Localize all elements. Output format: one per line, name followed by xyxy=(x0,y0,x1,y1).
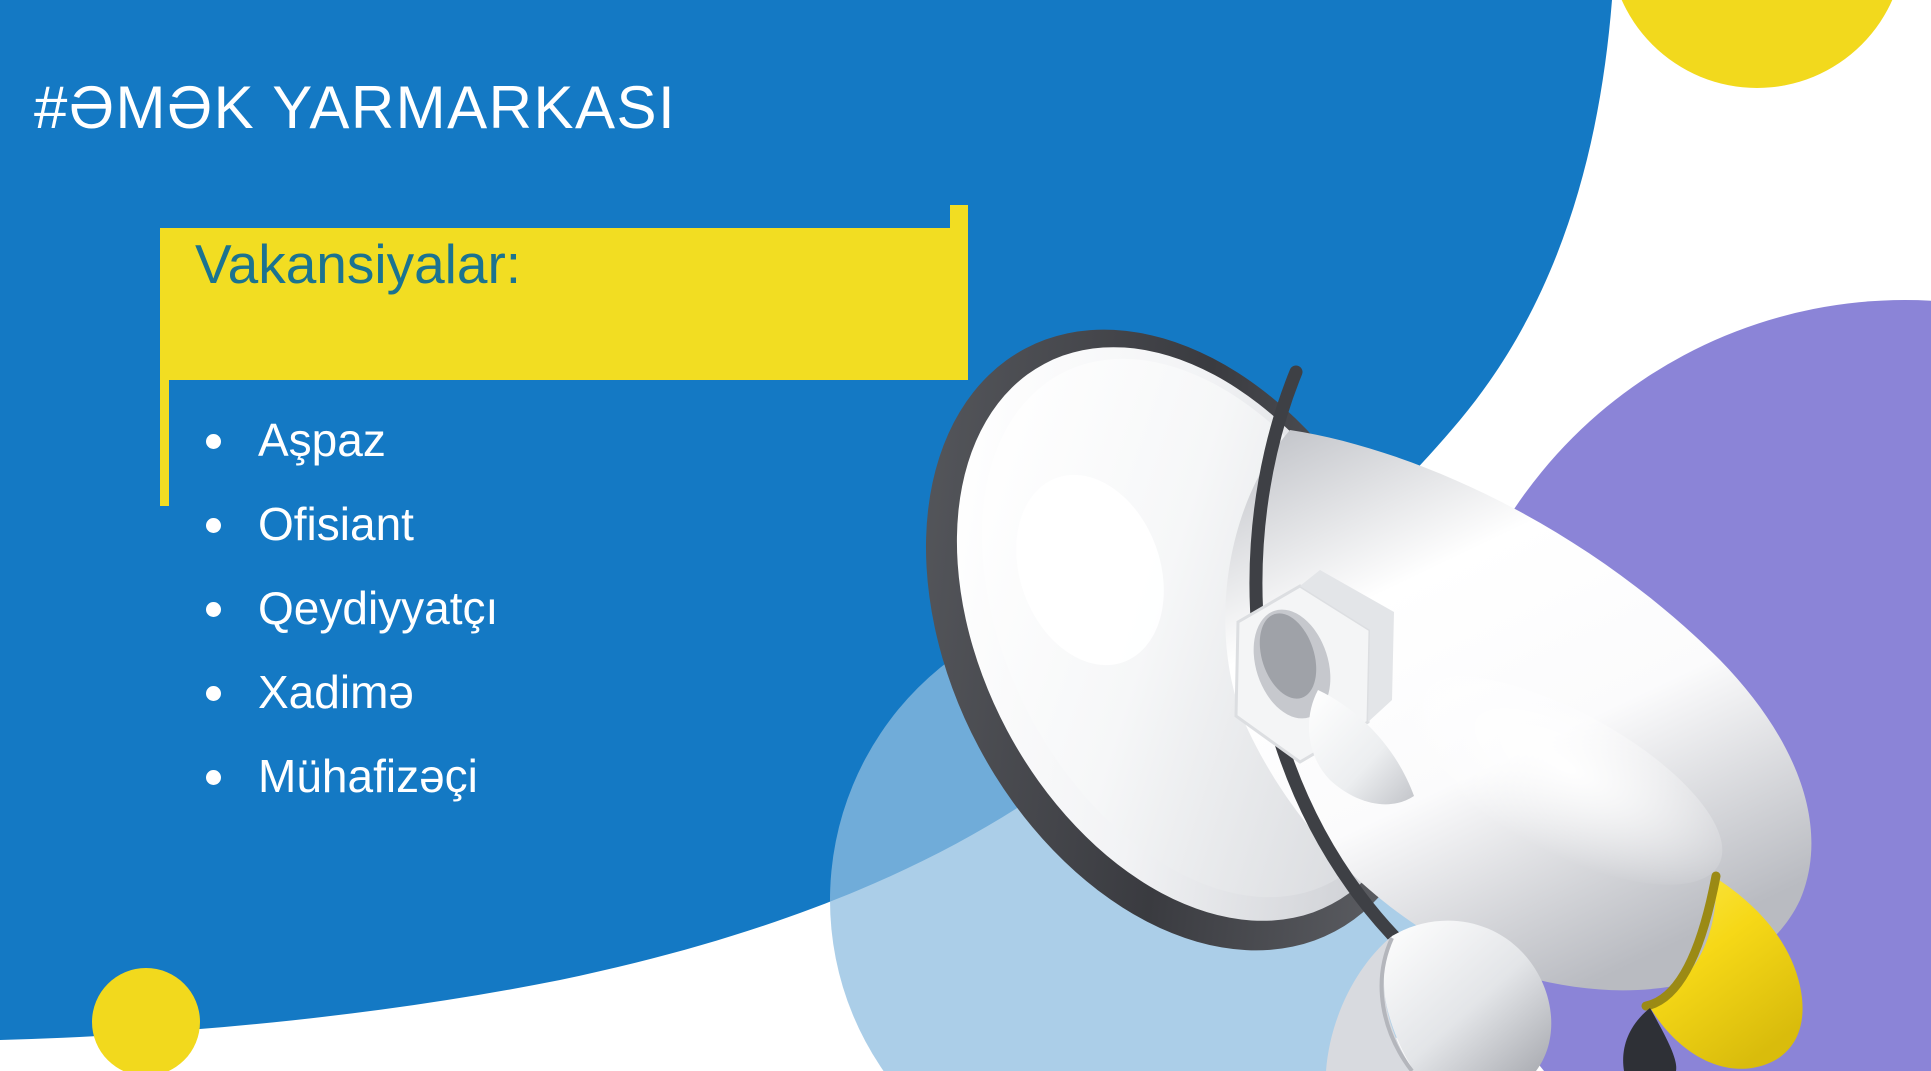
bullet-dot-icon xyxy=(206,602,221,617)
list-item: Qeydiyyatçı xyxy=(200,574,498,658)
vacancy-label: Qeydiyyatçı xyxy=(258,582,498,634)
list-item: Xadimə xyxy=(200,658,498,742)
yellow-circle-bottom-left xyxy=(92,968,200,1071)
vacancy-list: Aşpaz Ofisiant Qeydiyyatçı Xadimə Mühafi… xyxy=(200,406,498,826)
vacancy-label: Ofisiant xyxy=(258,498,414,550)
list-item: Aşpaz xyxy=(200,406,498,490)
poster-canvas: #ƏMƏK YARMARKASI Vakansiyalar: Aşpaz Ofi… xyxy=(0,0,1931,1071)
vacancy-banner-tab xyxy=(950,205,968,380)
vacancy-heading: Vakansiyalar: xyxy=(195,237,521,292)
bullet-dot-icon xyxy=(206,770,221,785)
vacancy-label: Aşpaz xyxy=(258,414,386,466)
vacancy-banner-stem xyxy=(160,380,169,506)
bullet-dot-icon xyxy=(206,686,221,701)
page-title: #ƏMƏK YARMARKASI xyxy=(34,78,676,138)
vacancy-label: Mühafizəçi xyxy=(258,750,478,802)
bullet-dot-icon xyxy=(206,434,221,449)
vacancy-label: Xadimə xyxy=(258,666,414,718)
list-item: Mühafizəçi xyxy=(200,742,498,826)
bullet-dot-icon xyxy=(206,518,221,533)
list-item: Ofisiant xyxy=(200,490,498,574)
